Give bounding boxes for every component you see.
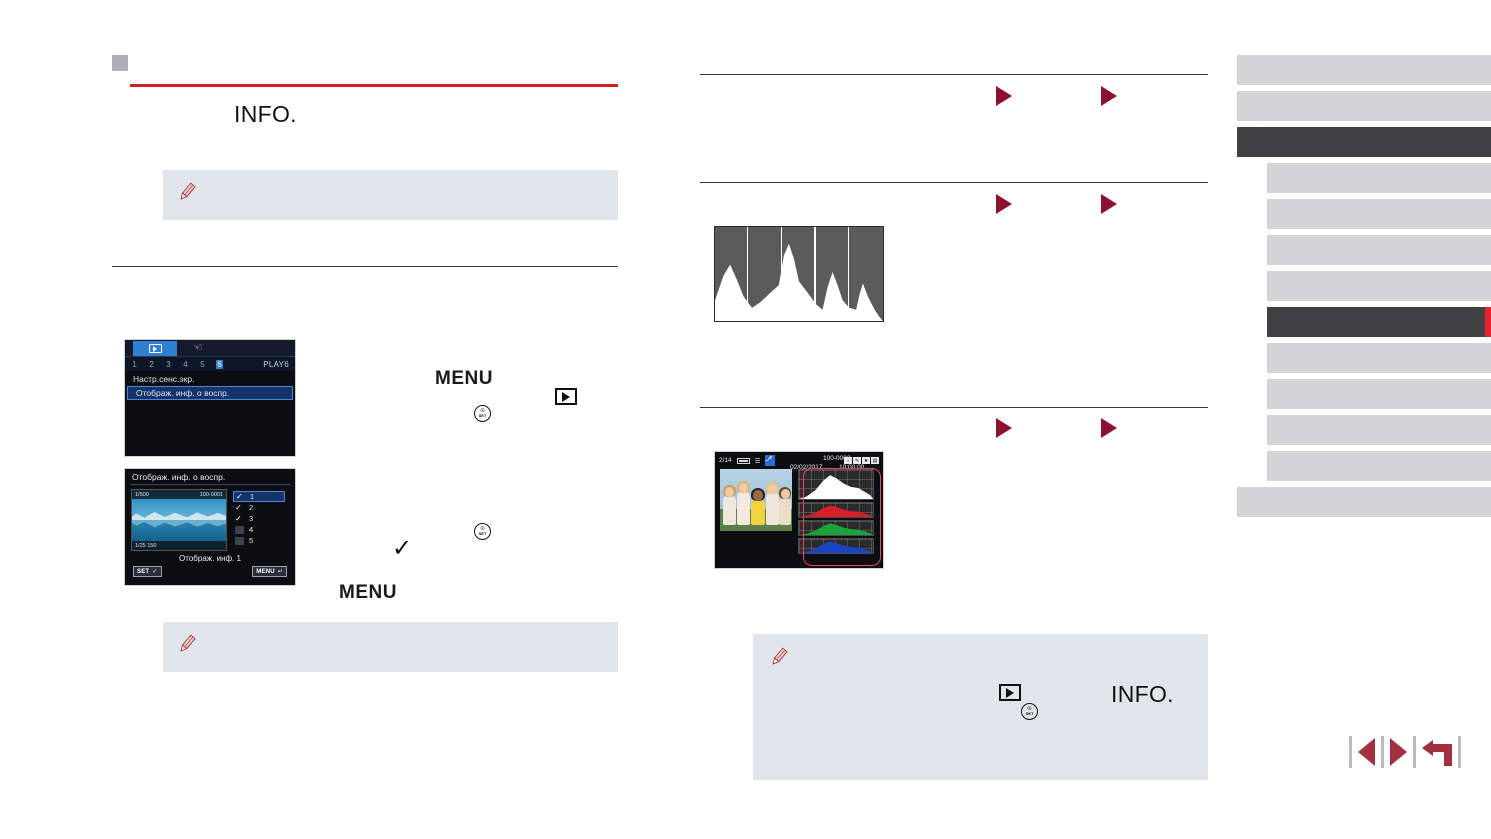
nav-sep-2 xyxy=(1381,736,1384,768)
green-histogram xyxy=(798,520,874,536)
note-box-1 xyxy=(163,170,618,220)
display-info-item-2[interactable]: ✓ 2 xyxy=(233,502,285,513)
note-box-3: ☉SET INFO. xyxy=(753,634,1208,780)
menu-page-3[interactable]: 3 xyxy=(165,360,172,369)
marker-triangle-3b xyxy=(1101,418,1117,438)
rgb-histogram-group xyxy=(798,469,874,554)
sidebar-tab-6[interactable] xyxy=(1267,235,1491,265)
check-icon-callout: ✓ xyxy=(392,537,412,561)
marker-triangle-1a xyxy=(996,86,1012,106)
display-info-caption: Отображ. инф. 1 xyxy=(125,554,295,563)
page-navigation xyxy=(1343,736,1467,768)
marker-triangle-2a xyxy=(996,194,1012,214)
empty-box-icon-4 xyxy=(235,526,244,534)
mid-divider-2 xyxy=(700,182,1208,183)
luminance-histogram xyxy=(798,469,874,500)
flag-icon-4: ▤ xyxy=(871,457,879,464)
sidebar-tab-3[interactable] xyxy=(1237,127,1491,157)
display-info-item-3[interactable]: ✓ 3 xyxy=(233,513,285,524)
wrench-tab[interactable]: ☜ xyxy=(193,342,203,355)
menu-key-glyph: ↵ xyxy=(278,568,283,575)
red-histogram xyxy=(798,502,874,518)
histogram-gridline-4 xyxy=(848,227,850,321)
display-info-item-3-label: 3 xyxy=(249,514,253,523)
brightness-histogram xyxy=(714,226,884,322)
preview-thumbnail: 1/500 100-0001 1/25 150 xyxy=(131,489,227,551)
sidebar-tab-2[interactable] xyxy=(1237,91,1491,121)
nav-sep-4 xyxy=(1458,736,1461,768)
rgb-playback-screen[interactable]: 2/14 ☰ 𐋲 i ✎ ★ ▤ 100-0002 02/02/2017 10:… xyxy=(714,451,884,569)
sidebar-tab-5[interactable] xyxy=(1267,199,1491,229)
menu-tabbar: ☜ xyxy=(125,340,295,357)
note-box-2 xyxy=(163,622,618,672)
previous-page-button[interactable] xyxy=(1358,738,1375,766)
preview-shutter: 1/500 xyxy=(135,492,149,498)
mid-divider-1 xyxy=(700,74,1208,75)
pencil-icon xyxy=(768,645,790,669)
menu-row-playback-info-display[interactable]: Отображ. инф. о воспр. xyxy=(127,386,293,400)
sidebar-tab-13[interactable] xyxy=(1237,487,1491,517)
bluetooth-icon: 𐋲 xyxy=(765,455,774,466)
menu-page-5[interactable]: 5 xyxy=(199,360,206,369)
left-divider xyxy=(112,266,618,267)
sidebar-tab-4[interactable] xyxy=(1267,163,1491,193)
menu-key-hint[interactable]: MENU ↵ xyxy=(252,566,287,577)
sidebar-tab-11[interactable] xyxy=(1267,415,1491,445)
photo-thumbnail xyxy=(720,469,792,531)
menu-page-2[interactable]: 2 xyxy=(148,360,155,369)
display-info-item-1-label: 1 xyxy=(250,492,254,501)
marker-triangle-1b xyxy=(1101,86,1117,106)
blue-histogram xyxy=(798,538,874,554)
pencil-icon xyxy=(176,632,198,656)
sidebar-tabs xyxy=(1237,55,1491,523)
display-info-item-5[interactable]: 5 xyxy=(233,535,285,546)
playback-tab[interactable] xyxy=(133,341,177,356)
set-key-label: SET xyxy=(137,569,149,575)
check-icon-3: ✓ xyxy=(235,514,249,523)
sidebar-tab-10[interactable] xyxy=(1267,379,1491,409)
menu-button-label-1: MENU xyxy=(435,368,493,390)
menu-page-6[interactable]: 6 xyxy=(216,360,223,369)
set-icon-3: ☉SET xyxy=(1021,703,1038,720)
menu-key-label: MENU xyxy=(256,569,274,575)
page-title xyxy=(135,60,615,80)
histogram-gridline-3 xyxy=(814,227,816,321)
display-info-item-4-label: 4 xyxy=(249,525,253,534)
pencil-icon xyxy=(176,180,198,204)
preview-bottom-bar: 1/25 150 xyxy=(132,541,226,550)
mid-divider-3 xyxy=(700,407,1208,408)
nav-sep-1 xyxy=(1349,736,1352,768)
preview-file: 100-0001 xyxy=(200,492,223,498)
manual-page: INFO. ☜ 1 2 3 4 5 6 PLAY6 На xyxy=(0,0,1491,839)
info-label-2: INFO. xyxy=(1111,681,1174,708)
menu-page-numbers: 1 2 3 4 5 6 PLAY6 xyxy=(125,357,295,371)
next-page-button[interactable] xyxy=(1390,738,1407,766)
playback-icon-2 xyxy=(999,684,1021,701)
display-info-screen[interactable]: Отображ. инф. о воспр. 1/500 100-0001 1/… xyxy=(124,468,296,586)
sidebar-tab-12[interactable] xyxy=(1267,451,1491,481)
frame-counter: 2/14 xyxy=(719,457,732,464)
empty-box-icon-5 xyxy=(235,537,244,545)
preview-top-bar: 1/500 100-0001 xyxy=(132,490,226,499)
sidebar-tab-1[interactable] xyxy=(1237,55,1491,85)
marker-triangle-2b xyxy=(1101,194,1117,214)
active-tab-accent xyxy=(1485,307,1491,337)
display-info-item-5-label: 5 xyxy=(249,536,253,545)
flag-icon-2: ✎ xyxy=(853,457,861,464)
battery-icon xyxy=(737,458,750,464)
display-info-item-4[interactable]: 4 xyxy=(233,524,285,535)
display-info-title-rule xyxy=(130,484,290,485)
info-button-label: INFO. xyxy=(234,101,297,128)
playback-icon-1 xyxy=(555,388,577,405)
nav-sep-3 xyxy=(1413,736,1416,768)
check-icon-1: ✓ xyxy=(236,492,250,501)
rgb-status-bar: 2/14 ☰ 𐋲 i ✎ ★ ▤ 100-0002 02/02/2017 10:… xyxy=(715,452,883,466)
display-info-item-1[interactable]: ✓ 1 xyxy=(233,491,285,502)
back-button[interactable] xyxy=(1422,738,1452,766)
section-marker-icon xyxy=(112,55,128,71)
sidebar-tab-9[interactable] xyxy=(1267,343,1491,373)
histogram-gridline-2 xyxy=(781,227,783,321)
histogram-gridline-1 xyxy=(747,227,749,321)
display-info-list[interactable]: ✓ 1 ✓ 2 ✓ 3 4 5 xyxy=(233,489,285,551)
set-key-hint[interactable]: SET ✓ xyxy=(133,566,162,577)
set-icon-1: ☉SET xyxy=(474,405,491,422)
camera-menu-screen[interactable]: ☜ 1 2 3 4 5 6 PLAY6 Настр.сенс.экр. Отоб… xyxy=(124,339,296,457)
sidebar-tab-8[interactable] xyxy=(1267,307,1491,337)
histogram-area xyxy=(715,227,883,321)
sidebar-tab-7[interactable] xyxy=(1267,271,1491,301)
flag-icon-3: ★ xyxy=(862,457,870,464)
display-info-title: Отображ. инф. о воспр. xyxy=(125,469,295,484)
check-icon-2: ✓ xyxy=(235,503,249,512)
menu-page-1[interactable]: 1 xyxy=(131,360,138,369)
menu-row-touch-settings[interactable]: Настр.сенс.экр. xyxy=(125,371,295,386)
menu-page-4[interactable]: 4 xyxy=(182,360,189,369)
menu-page-label: PLAY6 xyxy=(263,360,289,369)
menu-button-label-2: MENU xyxy=(339,582,397,604)
signal-icon: ☰ xyxy=(755,457,761,465)
set-key-glyph: ✓ xyxy=(152,568,157,575)
display-info-item-2-label: 2 xyxy=(249,503,253,512)
playback-icon xyxy=(149,344,162,353)
title-underline xyxy=(130,84,618,87)
marker-triangle-3a xyxy=(996,418,1012,438)
set-icon-2: ☉SET xyxy=(474,523,491,540)
file-number: 100-0002 xyxy=(823,455,850,462)
preview-exposure: 1/25 150 xyxy=(135,543,156,549)
